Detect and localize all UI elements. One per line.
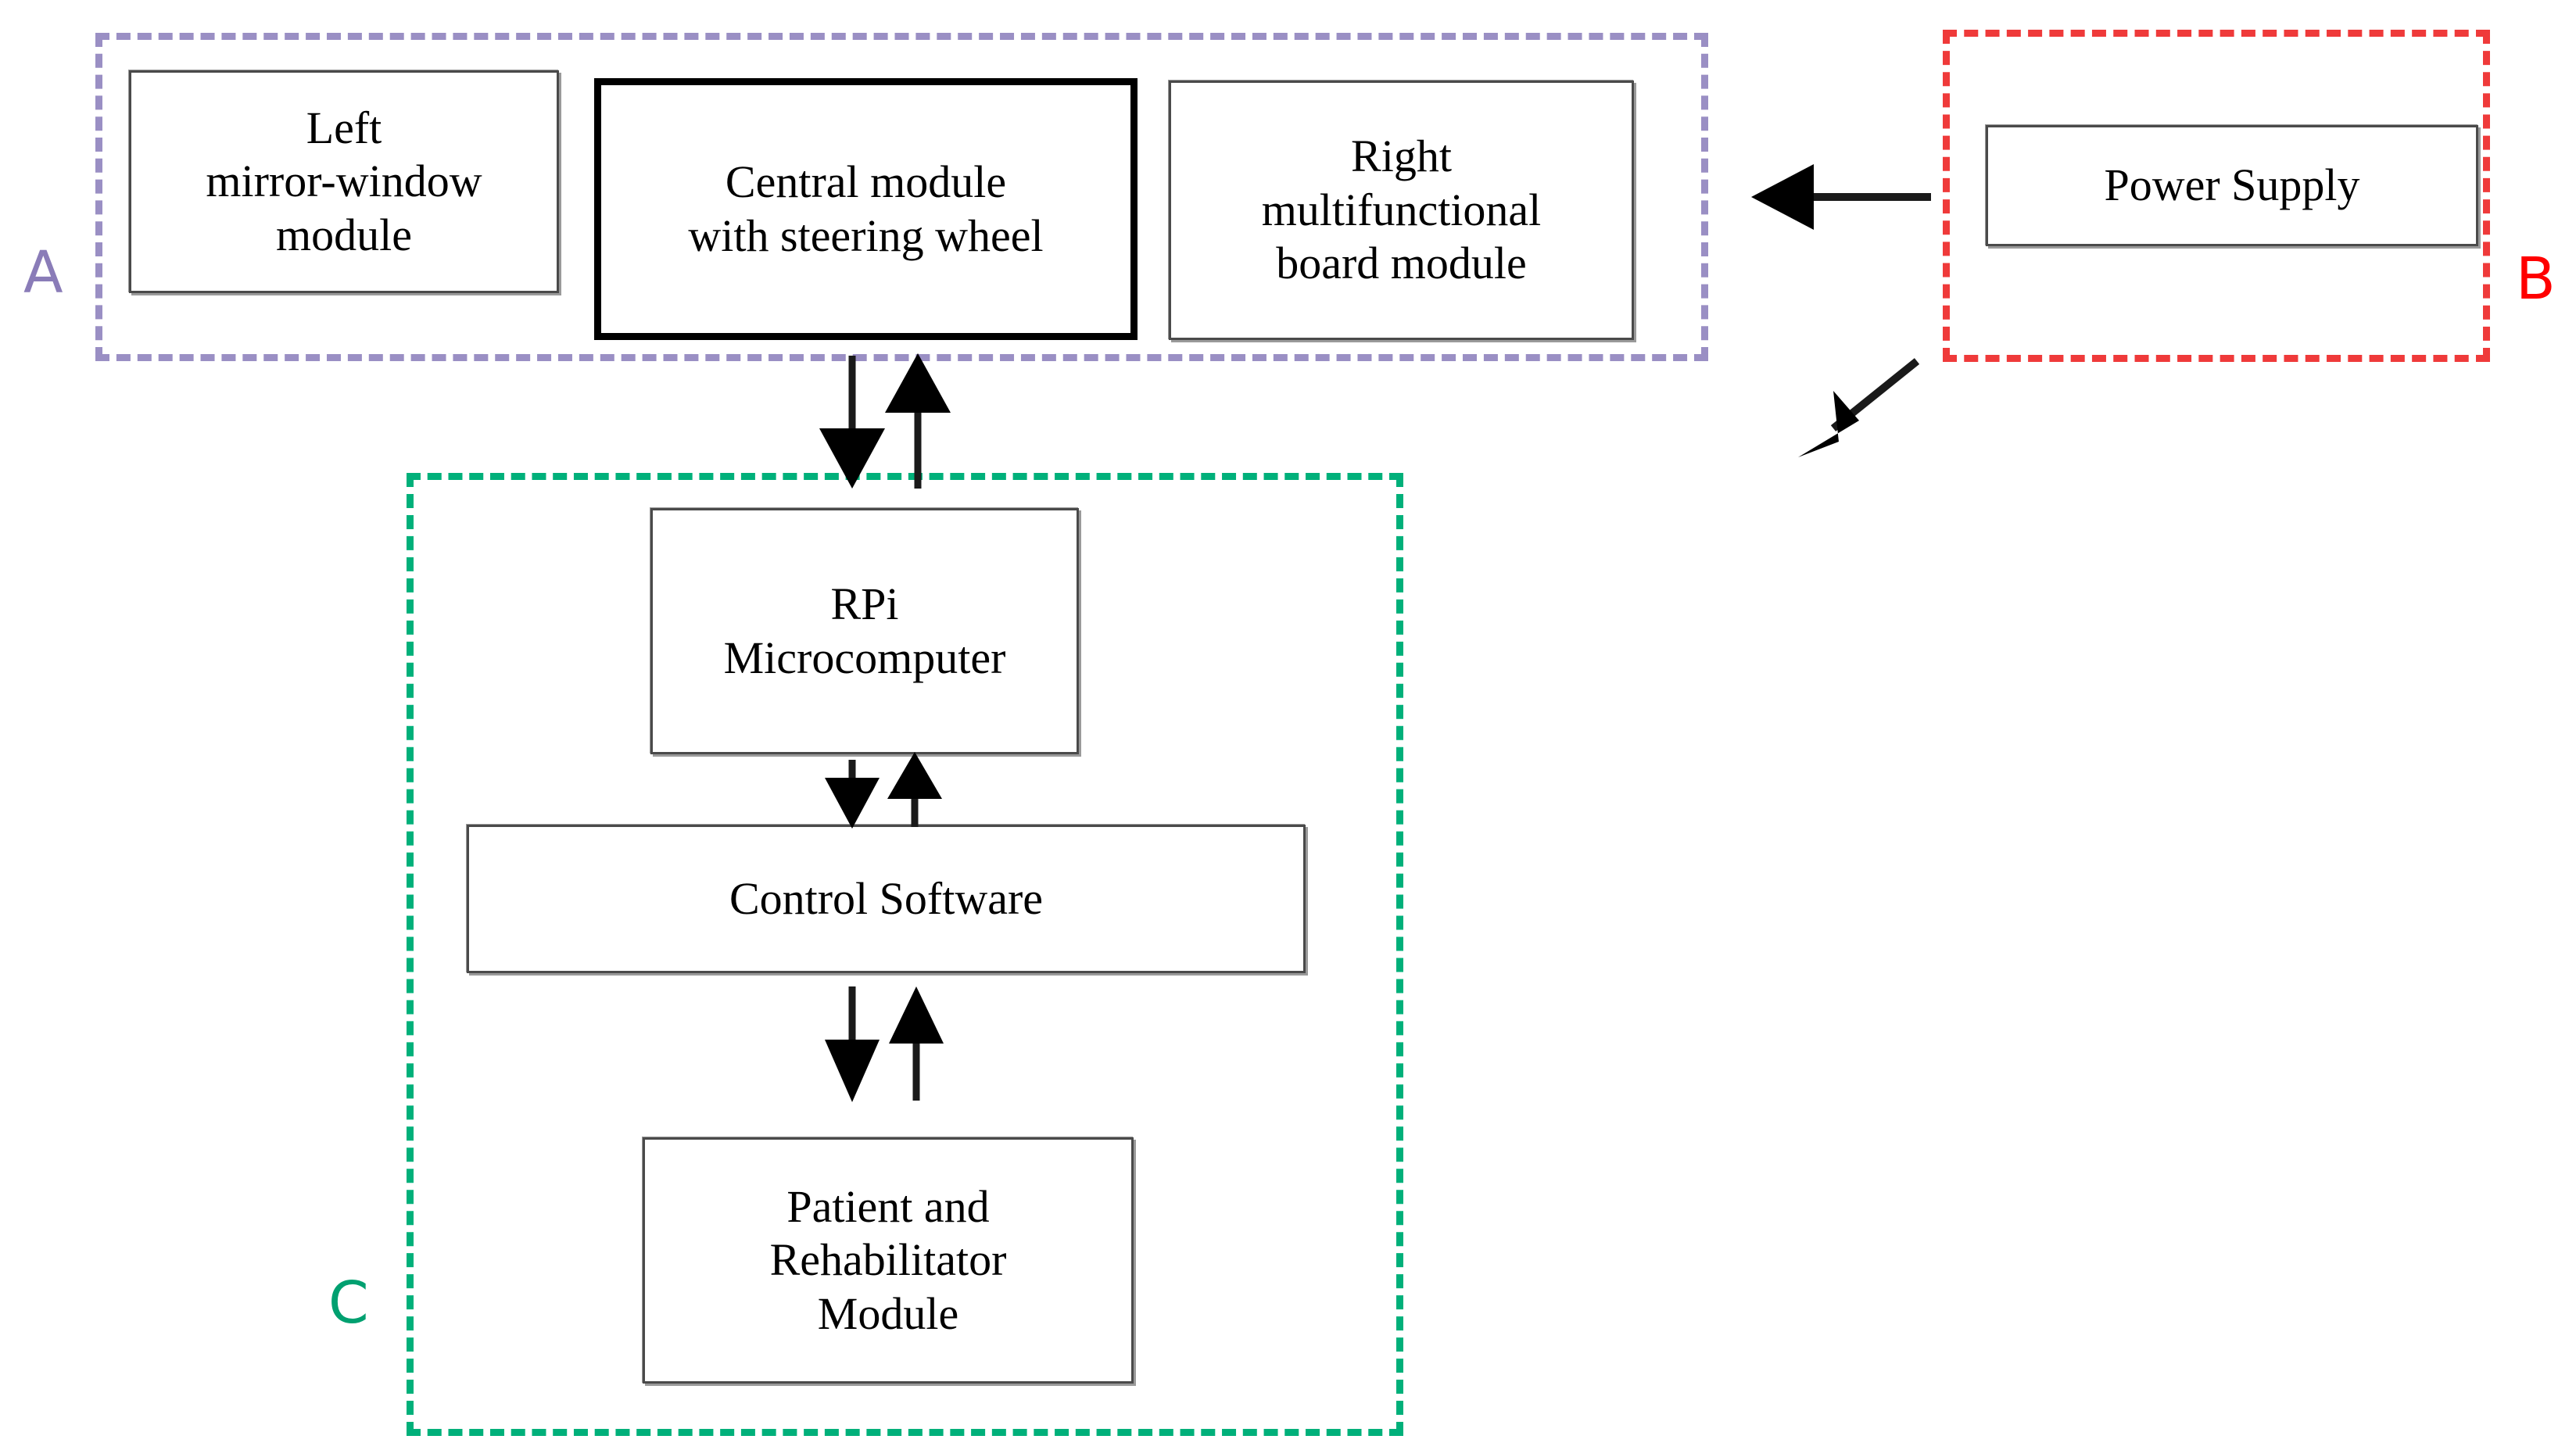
box-rpi-microcomputer: RPi Microcomputer — [650, 508, 1079, 754]
region-label-b: B — [2516, 250, 2556, 308]
box-right-line2: multifunctional — [1262, 184, 1542, 235]
box-patient-line2: Rehabilitator — [770, 1234, 1007, 1285]
box-rpi-line2: Microcomputer — [724, 632, 1006, 683]
box-right-multifunctional-board-module: Right multifunctional board module — [1169, 81, 1634, 340]
box-rpi-line1: RPi — [830, 578, 898, 629]
box-patient-line1: Patient and — [786, 1181, 989, 1232]
box-central-line1: Central module — [726, 156, 1006, 207]
box-central-module: Central module with steering wheel — [594, 78, 1138, 340]
box-left-line3: module — [276, 209, 412, 260]
box-right-line3: board module — [1276, 238, 1527, 288]
region-label-a: A — [23, 244, 63, 302]
box-right-line1: Right — [1351, 131, 1452, 181]
box-power-line1: Power Supply — [2104, 159, 2359, 210]
box-left-mirror-window-module: Left mirror-window module — [129, 70, 559, 293]
arrow-power-to-control-icon — [1798, 361, 1917, 457]
box-software-line1: Control Software — [729, 873, 1043, 924]
box-left-line2: mirror-window — [206, 156, 482, 206]
arrow-rpi-to-central-up-icon — [885, 353, 951, 489]
box-central-line2: with steering wheel — [688, 210, 1043, 261]
box-left-line1: Left — [306, 102, 382, 153]
box-control-software: Control Software — [467, 825, 1306, 973]
arrow-power-to-modules-icon — [1751, 164, 1931, 230]
diagram-canvas: A B C Left mirror-window module Central … — [0, 0, 2576, 1450]
arrow-central-to-rpi-down-icon — [819, 356, 885, 489]
box-patient-rehabilitator-module: Patient and Rehabilitator Module — [643, 1137, 1134, 1384]
region-label-c: C — [328, 1274, 369, 1332]
box-power-supply: Power Supply — [1986, 125, 2478, 246]
box-patient-line3: Module — [818, 1288, 958, 1339]
